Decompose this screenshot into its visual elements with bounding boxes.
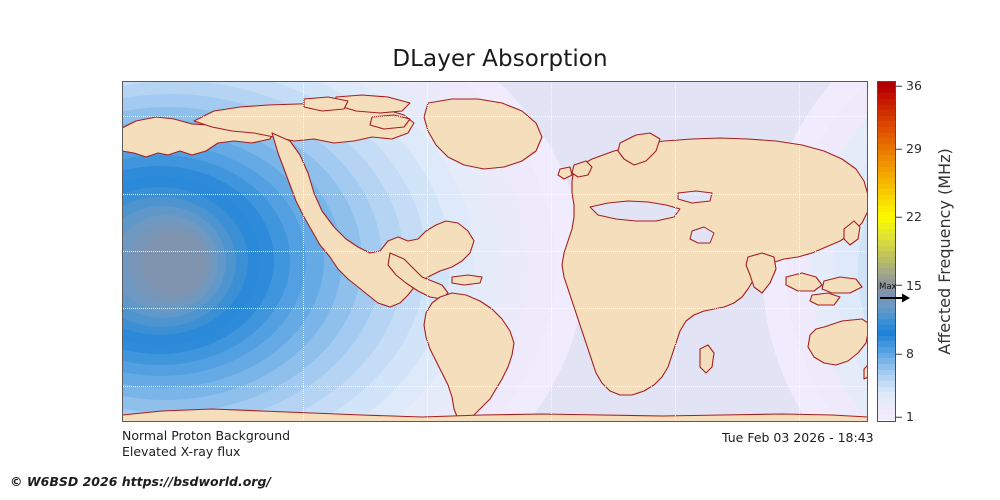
- tick-dash: [896, 86, 902, 87]
- gridline-lat--30: [122, 308, 868, 309]
- tick-value: 22: [906, 211, 922, 224]
- colorbar-segment: [878, 415, 895, 421]
- colorbar-axis-label: Affected Frequency (MHz): [930, 81, 958, 422]
- tick-dash: [896, 217, 902, 218]
- timestamp: Tue Feb 03 2026 - 18:43: [722, 430, 874, 445]
- colorbar-tick: 1: [896, 411, 914, 424]
- gridline-lat-60: [122, 116, 868, 117]
- colorbar[interactable]: [877, 81, 896, 422]
- status-note-xray: Elevated X-ray flux: [122, 444, 290, 460]
- world-map-axes[interactable]: [122, 81, 868, 422]
- figure-canvas: DLayer Absorption: [0, 0, 1000, 500]
- colorbar-tick: 29: [896, 143, 922, 156]
- tick-value: 8: [906, 348, 914, 361]
- colorbar-tick: 36: [896, 80, 922, 93]
- colorbar-tick: 8: [896, 348, 914, 361]
- status-notes: Normal Proton Background Elevated X-ray …: [122, 428, 290, 460]
- tick-value: 29: [906, 143, 922, 156]
- tick-dash: [896, 149, 902, 150]
- gridline-lat--60: [122, 386, 868, 387]
- tick-dash: [896, 417, 902, 418]
- colorbar-tick: 22: [896, 211, 922, 224]
- tick-value: 1: [906, 411, 914, 424]
- page-title: DLayer Absorption: [0, 46, 1000, 72]
- max-label: Max: [879, 283, 913, 292]
- arrow-right-icon: [879, 293, 911, 304]
- map-clip: [122, 81, 868, 422]
- status-note-proton: Normal Proton Background: [122, 428, 290, 444]
- gridline-lat-30: [122, 194, 868, 195]
- colorbar-max-annotation: Max: [879, 283, 913, 305]
- tick-dash: [896, 353, 902, 354]
- tick-value: 36: [906, 80, 922, 93]
- copyright-notice: © W6BSD 2026 https://bsdworld.org/: [10, 474, 271, 489]
- gridline-lat-0: [122, 251, 868, 252]
